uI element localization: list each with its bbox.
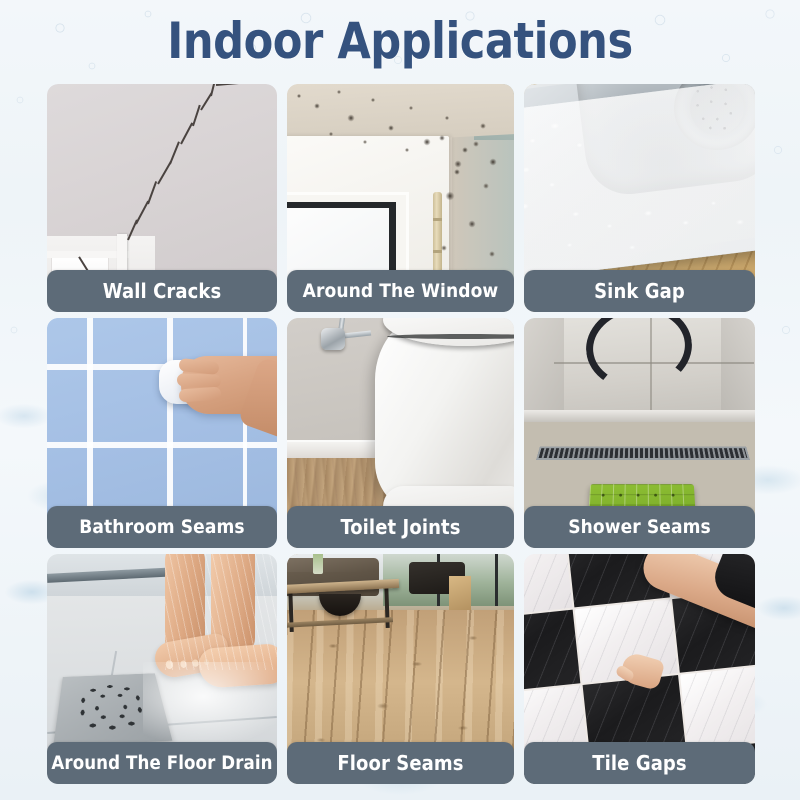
tile-around-the-floor-drain[interactable]: Around The Floor Drain: [47, 554, 277, 784]
sofa-back-shape: [287, 558, 379, 572]
water-spray-overlay: [165, 554, 277, 670]
marble-tile: [524, 610, 580, 694]
tile-tile-gaps[interactable]: Tile Gaps: [524, 554, 755, 784]
tile-label-wall-cracks: Wall Cracks: [47, 270, 277, 312]
tile-label-shower-seams: Shower Seams: [524, 506, 755, 548]
poster-background: Indoor Applications W: [0, 0, 800, 800]
tile-shower-seams[interactable]: Shower Seams: [524, 318, 755, 548]
tile-label-tile-gaps: Tile Gaps: [524, 742, 755, 784]
marble-tile: [680, 665, 755, 749]
crack-segment: [210, 84, 216, 96]
linear-drain-shape: [536, 446, 750, 460]
tile-label-toilet-joints: Toilet Joints: [287, 506, 514, 548]
crack-segment: [157, 161, 172, 185]
wood-stool-shape: [449, 576, 471, 612]
tile-bathroom-seams[interactable]: Bathroom Seams: [47, 318, 277, 548]
finger-shape: [177, 373, 221, 388]
page-title: Indoor Applications: [16, 14, 784, 68]
crack-segment: [192, 105, 201, 127]
tile-around-the-window[interactable]: Around The Window: [287, 84, 514, 312]
tile-wall-cracks[interactable]: Wall Cracks: [47, 84, 277, 312]
water-droplets-overlay: [524, 84, 755, 280]
applications-grid: Wall Cracks Around The Window: [47, 84, 755, 784]
tile-label-sink-gap: Sink Gap: [524, 270, 755, 312]
tile-floor-seams[interactable]: Floor Seams: [287, 554, 514, 784]
crack-segment: [135, 201, 149, 225]
tile-label-around-the-window: Around The Window: [287, 270, 514, 312]
tile-label-floor-seams: Floor Seams: [287, 742, 514, 784]
crack-segment: [216, 84, 260, 86]
marble-tile: [524, 554, 572, 618]
water-splash-overlay: [143, 662, 277, 748]
crack-segment: [147, 181, 157, 204]
vase-shape: [313, 554, 323, 574]
tile-label-around-the-floor-drain: Around The Floor Drain: [47, 742, 277, 784]
tile-toilet-joints[interactable]: Toilet Joints: [287, 318, 514, 548]
tile-sink-gap[interactable]: Sink Gap: [524, 84, 755, 312]
window-mullion-shape: [495, 554, 498, 606]
crack-segment: [169, 141, 180, 164]
shutoff-valve-shape: [321, 328, 345, 350]
tile-label-bathroom-seams: Bathroom Seams: [47, 506, 277, 548]
